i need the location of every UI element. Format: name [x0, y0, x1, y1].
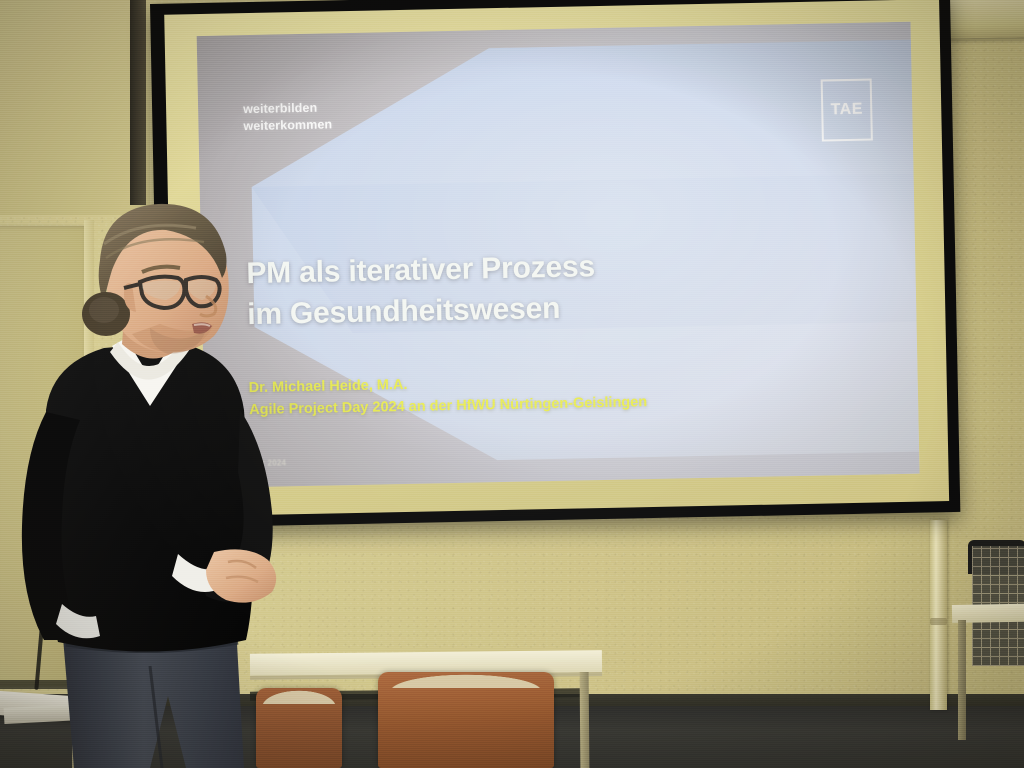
photo-scene: weiterbilden weiterkommen TAE PM als ite…	[0, 0, 1024, 768]
chair-backrest-top	[378, 672, 554, 688]
wall-upper-left-band	[0, 0, 150, 215]
door-frame-edge	[130, 0, 146, 205]
screen-support-pole	[930, 520, 947, 710]
chair-center	[378, 672, 554, 768]
lecture-table-leg	[580, 672, 590, 768]
screen-pole-cap	[930, 618, 947, 625]
presenter	[0, 196, 330, 768]
side-table-leg	[958, 620, 966, 740]
